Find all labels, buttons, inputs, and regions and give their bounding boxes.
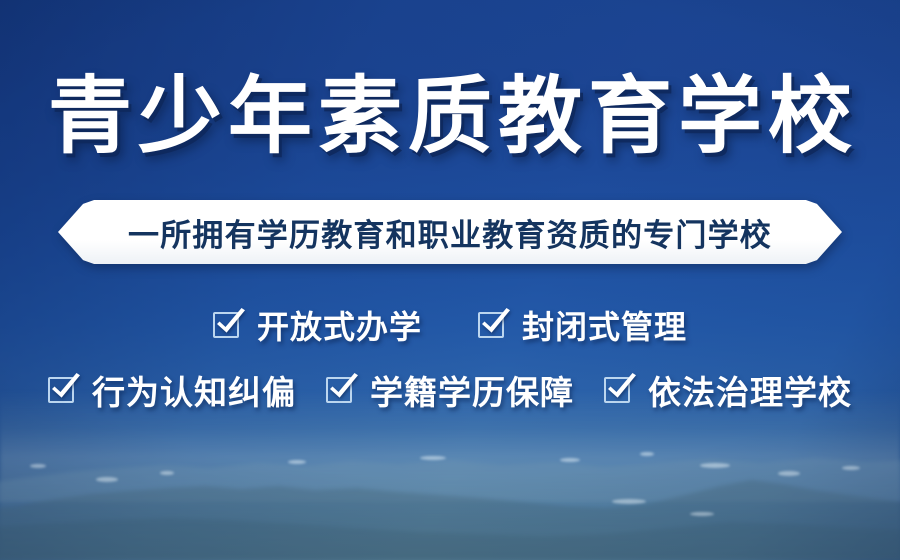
feature-item: 行为认知纠偏 [48,366,296,414]
checkbox-checked-icon [478,310,508,340]
feature-row-2: 行为认知纠偏 学籍学历保障 [48,366,852,414]
feature-label: 依法治理学校 [648,366,852,414]
feature-item: 依法治理学校 [604,366,852,414]
poster-content: 青少年素质教育学校 一所拥有学历教育和职业教育资质的专门学校 开放式办学 [0,0,900,560]
feature-label: 开放式办学 [257,302,422,348]
subtitle-banner: 一所拥有学历教育和职业教育资质的专门学校 [58,200,842,264]
feature-label: 封闭式管理 [522,302,687,348]
feature-item: 开放式办学 [213,302,422,348]
feature-item: 学籍学历保障 [326,366,574,414]
checkbox-checked-icon [326,375,356,405]
checkbox-checked-icon [48,375,78,405]
feature-list: 开放式办学 封闭式管理 [0,302,900,414]
feature-item: 封闭式管理 [478,302,687,348]
feature-label: 行为认知纠偏 [92,366,296,414]
promo-poster: 青少年素质教育学校 一所拥有学历教育和职业教育资质的专门学校 开放式办学 [0,0,900,560]
subtitle-banner-text: 一所拥有学历教育和职业教育资质的专门学校 [128,210,772,255]
checkbox-checked-icon [604,375,634,405]
feature-row-1: 开放式办学 封闭式管理 [213,302,687,348]
subtitle-banner-shape: 一所拥有学历教育和职业教育资质的专门学校 [58,200,842,264]
checkbox-checked-icon [213,310,243,340]
page-title: 青少年素质教育学校 [42,74,858,158]
feature-label: 学籍学历保障 [370,366,574,414]
